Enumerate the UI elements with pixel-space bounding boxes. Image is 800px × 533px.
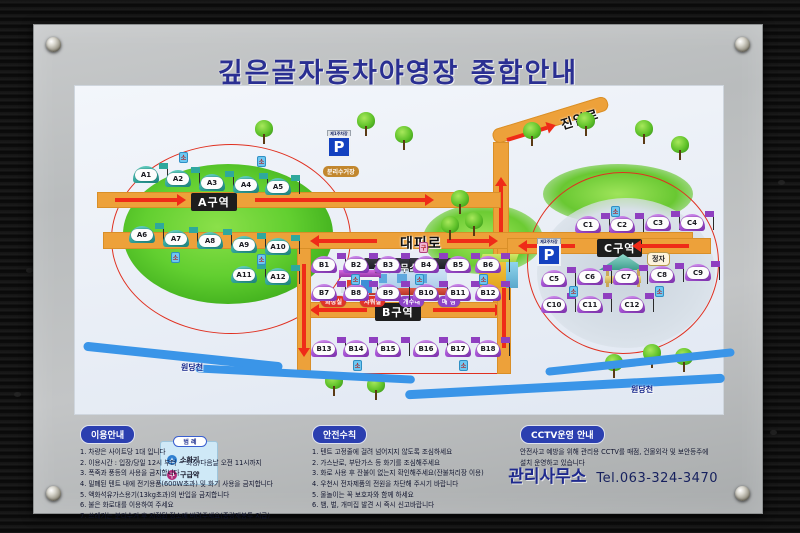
campsite-marker[interactable]: A3 (199, 172, 225, 192)
tree (357, 112, 375, 136)
campsite-label: C5 (543, 273, 565, 285)
campsite-label: B4 (415, 259, 437, 271)
campsite-label: B2 (345, 259, 367, 271)
fire-extinguisher-marker: 소 (351, 274, 360, 285)
campsite-label: C12 (621, 299, 643, 311)
campsite-label: B14 (345, 343, 367, 355)
safety-info-line: 5. 물놀이는 꼭 보호자와 함께 하세요 (312, 490, 518, 501)
campsite-label: B5 (447, 259, 469, 271)
campsite-label: B16 (415, 343, 437, 355)
campsite-marker[interactable]: C10 (541, 294, 567, 314)
campsite-marker[interactable]: B8 (343, 282, 369, 302)
stream-label-left: 원당천 (181, 362, 203, 373)
safety-info-section: 안전수칙 1. 텐트 고정줄에 걸려 넘어지지 않도록 조심하세요 2. 가스난… (312, 423, 518, 511)
campsite-marker[interactable]: B3 (375, 254, 401, 274)
screw-bottom-left (46, 486, 61, 501)
campsite-marker[interactable]: B1 (311, 254, 337, 274)
campsite-label: C8 (651, 269, 673, 281)
safety-info-line: 6. 뱀, 벌, 개미집 발견 시 즉시 신고바랍니다 (312, 500, 518, 511)
screw-bottom-right (735, 486, 750, 501)
campsite-label: C1 (577, 219, 599, 231)
tree (451, 190, 469, 214)
campsite-label: A9 (233, 239, 255, 251)
campsite-label: B15 (377, 343, 399, 355)
campsite-marker[interactable]: A8 (197, 230, 223, 250)
campsite-label: A11 (233, 269, 255, 281)
usage-info-line: 4. 밀폐된 텐트 내에 전기용품(600W초과) 및 화기 사용을 금지합니다 (80, 479, 310, 490)
campsite-label: A6 (131, 229, 153, 241)
campsite-marker[interactable]: B10 (413, 282, 439, 302)
safety-info-line: 4. 우천시 전자제품의 전원을 차단해 주시기 바랍니다 (312, 479, 518, 490)
campsite-label: B3 (377, 259, 399, 271)
campsite-label: B9 (377, 287, 399, 299)
fire-extinguisher-marker: 소 (171, 252, 180, 263)
campsite-label: A7 (165, 233, 187, 245)
fire-extinguisher-marker: 소 (353, 360, 362, 371)
information-board: 깊은골자동차야영장 종합안내 진입로 대피로 A구역 (33, 24, 763, 514)
fire-extinguisher-marker: 소 (415, 274, 424, 285)
campsite-marker[interactable]: B11 (445, 282, 471, 302)
campsite-label: C2 (611, 219, 633, 231)
campsite-label: A3 (201, 177, 223, 189)
arrow-evac-left (319, 239, 377, 243)
cctv-info-heading: CCTV운영 안내 (520, 425, 605, 444)
campsite-marker[interactable]: B13 (311, 338, 337, 358)
arrow-zone-a-1 (115, 198, 177, 202)
parking-sign-1-symbol: P (327, 136, 351, 158)
campsite-marker[interactable]: B16 (413, 338, 439, 358)
campsite-marker[interactable]: A2 (165, 168, 191, 188)
campsite-label: A2 (167, 173, 189, 185)
first-aid-marker: 구 (419, 242, 428, 253)
campsite-label: A8 (199, 235, 221, 247)
usage-info-section: 이용안내 1. 차량은 사이트당 1대 입니다 2. 이용시간 : 입장/당일 … (80, 423, 310, 522)
usage-info-line: 2. 이용시간 : 입장/당일 12시 부터 ~ 퇴장/다음날 오전 11시까지 (80, 458, 310, 469)
fire-extinguisher-marker: 소 (179, 152, 188, 163)
safety-info-line: 1. 텐트 고정줄에 걸려 넘어지지 않도록 조심하세요 (312, 447, 518, 458)
campsite-marker[interactable]: C4 (679, 212, 705, 232)
cctv-info-line: 안전사고 예방을 위해 관리용 CCTV를 매점, 건물외각 및 보안등주에 (520, 447, 744, 458)
stream-label-right: 원당천 (631, 384, 653, 395)
safety-info-line: 2. 가스난로, 부탄가스 등 화기를 조심해주세요 (312, 458, 518, 469)
campsite-marker[interactable]: C2 (609, 214, 635, 234)
campsite-marker[interactable]: A7 (163, 228, 189, 248)
campsite-marker[interactable]: C7 (613, 266, 639, 286)
tree (523, 122, 541, 146)
campsite-label: A4 (235, 179, 257, 191)
campsite-marker[interactable]: B18 (475, 338, 501, 358)
campsite-marker[interactable]: C9 (685, 262, 711, 282)
campsite-marker[interactable]: A6 (129, 224, 155, 244)
campsite-label: B18 (477, 343, 499, 355)
stream-right (405, 374, 725, 400)
campsite-label: B8 (345, 287, 367, 299)
tree (441, 216, 459, 240)
campsite-label: A12 (267, 271, 289, 283)
arrow-zone-b-right (433, 308, 495, 312)
usage-info-line: 5. 액화석유가스용기(13kg초과)의 반입을 금지합니다 (80, 490, 310, 501)
tree (255, 120, 273, 144)
campsite-marker[interactable]: B17 (445, 338, 471, 358)
campsite-marker[interactable]: A4 (233, 174, 259, 194)
fire-extinguisher-marker: 소 (257, 254, 266, 265)
tree (635, 120, 653, 144)
usage-info-line: 6. 불은 화로대를 이용하여 주세요 (80, 500, 310, 511)
fire-extinguisher-marker: 소 (257, 156, 266, 167)
campsite-marker[interactable]: B4 (413, 254, 439, 274)
campsite-marker[interactable]: A12 (265, 266, 291, 286)
campsite-marker[interactable]: C6 (577, 266, 603, 286)
arrow-zone-a-2 (255, 198, 425, 202)
recycling-area-label: 분리수거장 (323, 166, 359, 177)
arrow-zone-c-2 (641, 244, 689, 248)
campsite-marker[interactable]: B6 (475, 254, 501, 274)
fire-extinguisher-marker: 소 (611, 206, 620, 217)
campsite-marker[interactable]: C8 (649, 264, 675, 284)
campsite-marker[interactable]: B12 (475, 282, 501, 302)
campsite-marker[interactable]: A1 (133, 164, 159, 184)
arrow-zone-b-left (319, 308, 367, 312)
fire-extinguisher-marker: 소 (479, 274, 488, 285)
campsite-marker[interactable]: A10 (265, 236, 291, 256)
footer-telephone: Tel.063-324-3470 (596, 471, 718, 486)
campsite-marker[interactable]: B15 (375, 338, 401, 358)
campsite-label: A10 (267, 241, 289, 253)
campsite-marker[interactable]: C5 (541, 268, 567, 288)
campsite-label: B17 (447, 343, 469, 355)
campsite-label: C10 (543, 299, 565, 311)
campsite-marker[interactable]: C1 (575, 214, 601, 234)
page-title: 깊은골자동차야영장 종합안내 (218, 51, 578, 90)
parking-sign-1[interactable]: 제1주차장 P (327, 130, 351, 160)
campsite-label: B1 (313, 259, 335, 271)
campsite-label: A1 (135, 169, 157, 181)
parking-sign-2[interactable]: 제2주차장 P (537, 238, 561, 268)
fire-extinguisher-marker: 소 (569, 286, 578, 297)
campsite-marker[interactable]: C12 (619, 294, 645, 314)
fire-extinguisher-marker: 소 (655, 286, 664, 297)
campsite-label: B6 (477, 259, 499, 271)
usage-info-heading: 이용안내 (80, 425, 135, 444)
campsite-marker[interactable]: C11 (577, 294, 603, 314)
campsite-marker[interactable]: A9 (231, 234, 257, 254)
fire-extinguisher-marker: 소 (459, 360, 468, 371)
campsite-marker[interactable]: B7 (311, 282, 337, 302)
campsite-marker[interactable]: A5 (265, 176, 291, 196)
footer-contact: 관리사무소 Tel.063-324-3470 (508, 462, 718, 487)
arrow-zone-b-left-down (302, 264, 306, 348)
campsite-marker[interactable]: B2 (343, 254, 369, 274)
campground-map: 진입로 대피로 A구역 B구역 C구역 (74, 85, 724, 415)
tree (395, 126, 413, 150)
campsite-marker[interactable]: C3 (645, 212, 671, 232)
tree (671, 136, 689, 160)
campsite-label: C7 (615, 271, 637, 283)
campsite-label: B11 (447, 287, 469, 299)
campsite-label: B13 (313, 343, 335, 355)
campsite-marker[interactable]: B9 (375, 282, 401, 302)
campsite-marker[interactable]: A11 (231, 264, 257, 284)
safety-info-heading: 안전수칙 (312, 425, 367, 444)
tree (577, 112, 595, 136)
safety-info-line: 3. 화로 사용 후 잔불이 없는지 확인해주세요(잔불처리장 이용) (312, 468, 518, 479)
usage-info-line: 3. 폭죽과 풍등의 사용을 금지합니다 (80, 468, 310, 479)
campsite-label: C11 (579, 299, 601, 311)
usage-info-line: 7. 쓰레기는 분리수거 후 지정된 장소에 버려주세요(종량제봉투 지급) (80, 511, 310, 522)
campsite-label: B12 (477, 287, 499, 299)
campsite-label: A5 (267, 181, 289, 193)
campsite-label: C4 (681, 217, 703, 229)
campsite-label: C6 (579, 271, 601, 283)
campsite-label: C3 (647, 217, 669, 229)
campsite-label: C9 (687, 267, 709, 279)
campsite-label: B10 (415, 287, 437, 299)
usage-info-line: 1. 차량은 사이트당 1대 입니다 (80, 447, 310, 458)
tree (465, 212, 483, 236)
footer-office-label: 관리사무소 (508, 462, 586, 487)
campsite-marker[interactable]: B5 (445, 254, 471, 274)
parking-sign-2-symbol: P (537, 244, 561, 266)
road-label-zone-a: A구역 (191, 193, 237, 211)
campsite-label: B7 (313, 287, 335, 299)
campsite-marker[interactable]: B14 (343, 338, 369, 358)
